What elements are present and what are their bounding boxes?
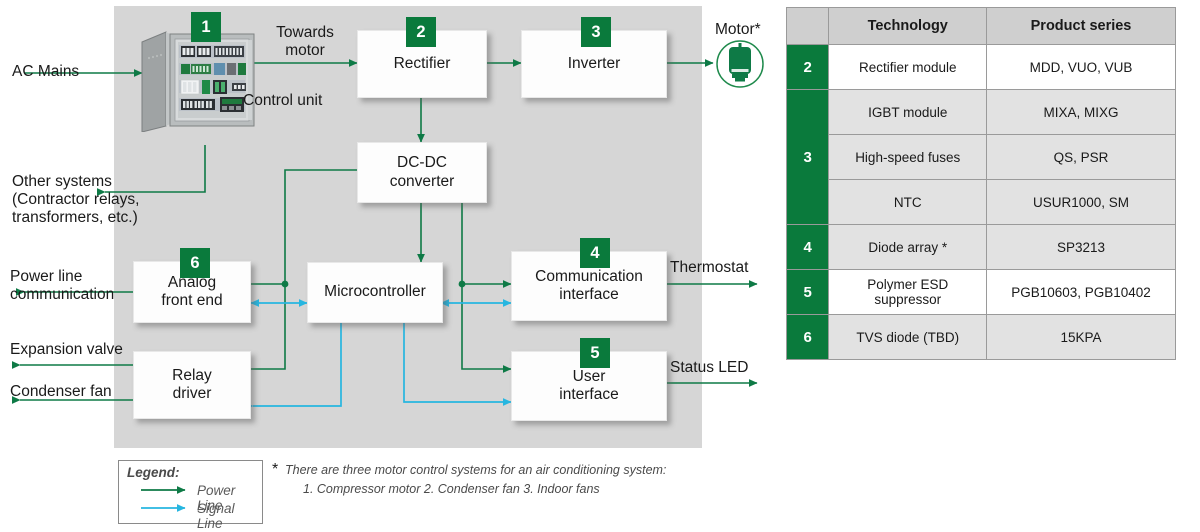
table-cell-product: USUR1000, SM [987,180,1176,225]
technology-product-table: Technology Product series 2 Rectifier mo… [786,7,1176,360]
block-comm-label-line2: interface [555,286,622,304]
table-cell-number: 5 [787,270,829,315]
label-towards-motor: Towards motor [266,24,344,60]
badge-control-unit: 1 [191,12,221,42]
badge-rectifier: 2 [406,17,436,47]
block-afe-label-line2: front end [157,292,226,310]
label-plc-line1: Power line [10,268,114,286]
table-cell-product: 15KPA [987,315,1176,360]
diagram-root: 1 Rectifier 2 Inverter 3 DC-DC converter… [0,0,1200,532]
label-towards-motor-line2: motor [266,42,344,60]
table-header-product-series: Product series [987,8,1176,45]
label-expansion-valve: Expansion valve [10,341,123,359]
table-header-number [787,8,829,45]
label-condenser-fan: Condenser fan [10,383,112,401]
table-cell-technology: TVS diode (TBD) [829,315,987,360]
block-relay-driver[interactable]: Relay driver [133,351,251,419]
footnote-line1: There are three motor control systems fo… [285,461,735,480]
legend: Legend: Power Line Signal Line [118,460,263,524]
table-cell-technology: IGBT module [829,90,987,135]
label-other-systems-line3: transformers, etc.) [12,209,139,227]
badge-analog-front-end: 6 [180,248,210,278]
block-rectifier-label: Rectifier [390,55,455,73]
block-ui-label-line1: User [569,368,610,386]
label-plc-line2: communication [10,286,114,304]
table-header-technology: Technology [829,8,987,45]
table-row: High-speed fuses QS, PSR [787,135,1176,180]
table-cell-number: 4 [787,225,829,270]
label-power-line-communication: Power line communication [10,268,114,304]
table-cell-technology: Diode array * [829,225,987,270]
badge-user-interface: 5 [580,338,610,368]
table-cell-product: SP3213 [987,225,1176,270]
label-ac-mains: AC Mains [12,63,79,81]
label-other-systems: Other systems (Contractor relays, transf… [12,173,139,227]
motor-icon [713,38,767,90]
block-relay-label-line1: Relay [168,367,216,385]
badge-inverter: 3 [581,17,611,47]
table-row: 6 TVS diode (TBD) 15KPA [787,315,1176,360]
footnote-marker: * [272,458,278,482]
table-cell-technology: NTC [829,180,987,225]
table-cell-product: QS, PSR [987,135,1176,180]
table-row: 2 Rectifier module MDD, VUO, VUB [787,45,1176,90]
block-ui-label-line2: interface [555,386,622,404]
label-other-systems-line1: Other systems [12,173,139,191]
footnote-line2: 1. Compressor motor 2. Condenser fan 3. … [285,480,735,499]
block-dcdc-converter[interactable]: DC-DC converter [357,142,487,203]
table-cell-technology: High-speed fuses [829,135,987,180]
table-row: 3 IGBT module MIXA, MIXG [787,90,1176,135]
control-unit-cabinet-image [140,28,258,132]
label-other-systems-line2: (Contractor relays, [12,191,139,209]
table-cell-number: 3 [787,90,829,225]
table-cell-technology-line1: Polymer ESD [829,277,986,292]
label-thermostat: Thermostat [670,259,748,277]
block-microcontroller-label: Microcontroller [320,283,430,301]
table-row: 5 Polymer ESD suppressor PGB10603, PGB10… [787,270,1176,315]
label-status-led: Status LED [670,359,748,377]
table-header-row: Technology Product series [787,8,1176,45]
label-control-unit: Control unit [243,92,322,110]
block-inverter-label: Inverter [564,55,625,73]
table-cell-technology: Polymer ESD suppressor [829,270,987,315]
legend-signal-line-label: Signal Line [197,501,262,531]
block-microcontroller[interactable]: Microcontroller [307,262,443,323]
block-dcdc-label-line2: converter [386,173,459,191]
table-row: NTC USUR1000, SM [787,180,1176,225]
table-cell-product: MDD, VUO, VUB [987,45,1176,90]
table-cell-number: 2 [787,45,829,90]
badge-communication-interface: 4 [580,238,610,268]
table-row: 4 Diode array * SP3213 [787,225,1176,270]
block-comm-label-line1: Communication [531,268,647,286]
table-cell-product: MIXA, MIXG [987,90,1176,135]
block-dcdc-label-line1: DC-DC [393,154,451,172]
table-cell-product: PGB10603, PGB10402 [987,270,1176,315]
block-relay-label-line2: driver [169,385,216,403]
table-cell-technology-line2: suppressor [829,292,986,307]
label-motor: Motor* [715,21,761,39]
label-towards-motor-line1: Towards [266,24,344,42]
table-cell-technology: Rectifier module [829,45,987,90]
table-cell-number: 6 [787,315,829,360]
footnote: * There are three motor control systems … [285,461,735,499]
